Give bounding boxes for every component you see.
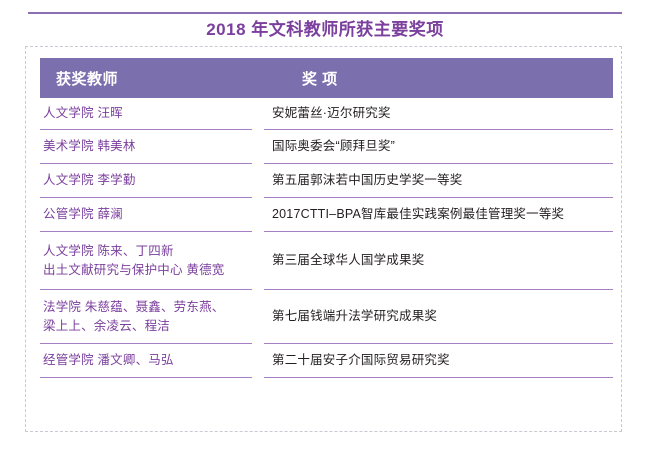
cell-award: 第三届全球华人国学成果奖 — [264, 232, 613, 290]
teacher-line: 公管学院 薛澜 — [43, 205, 242, 224]
cell-teacher: 人文学院 李学勤 — [40, 164, 252, 198]
column-header-teacher: 获奖教师 — [40, 68, 252, 89]
award-text: 第五届郭沫若中国历史学奖一等奖 — [272, 171, 463, 190]
cell-teacher: 人文学院 汪晖 — [40, 98, 252, 130]
teacher-line: 经管学院 潘文卿、马弘 — [43, 351, 242, 370]
cell-teacher: 经管学院 潘文卿、马弘 — [40, 344, 252, 378]
award-text: 国际奥委会“顾拜旦奖” — [272, 137, 395, 156]
teacher-line: 法学院 朱慈蕴、聂鑫、劳东燕、 — [43, 298, 242, 317]
cell-award: 第五届郭沫若中国历史学奖一等奖 — [264, 164, 613, 198]
teacher-line: 人文学院 陈来、丁四新 — [43, 242, 242, 261]
table-row: 公管学院 薛澜2017CTTI–BPA智库最佳实践案例最佳管理奖一等奖 — [40, 198, 613, 232]
award-text: 第七届钱端升法学研究成果奖 — [272, 307, 437, 326]
table-row: 人文学院 汪晖安妮蕾丝·迈尔研究奖 — [40, 98, 613, 130]
table-body: 人文学院 汪晖安妮蕾丝·迈尔研究奖美术学院 韩美林国际奥委会“顾拜旦奖”人文学院… — [40, 98, 613, 378]
table-row: 人文学院 李学勤第五届郭沫若中国历史学奖一等奖 — [40, 164, 613, 198]
award-text: 安妮蕾丝·迈尔研究奖 — [272, 104, 391, 123]
column-header-award: 奖 项 — [252, 68, 613, 89]
teacher-line: 出土文献研究与保护中心 黄德宽 — [43, 261, 242, 280]
page-root: 2018 年文科教师所获主要奖项 获奖教师 奖 项 人文学院 汪晖安妮蕾丝·迈尔… — [0, 0, 650, 454]
cell-award: 安妮蕾丝·迈尔研究奖 — [264, 98, 613, 130]
cell-award: 第七届钱端升法学研究成果奖 — [264, 290, 613, 344]
cell-award: 国际奥委会“顾拜旦奖” — [264, 130, 613, 164]
cell-award: 2017CTTI–BPA智库最佳实践案例最佳管理奖一等奖 — [264, 198, 613, 232]
cell-award: 第二十届安子介国际贸易研究奖 — [264, 344, 613, 378]
teacher-line: 人文学院 汪晖 — [43, 104, 242, 123]
award-text: 第二十届安子介国际贸易研究奖 — [272, 351, 450, 370]
award-text: 2017CTTI–BPA智库最佳实践案例最佳管理奖一等奖 — [272, 205, 564, 224]
cell-teacher: 法学院 朱慈蕴、聂鑫、劳东燕、梁上上、余凌云、程洁 — [40, 290, 252, 344]
awards-table: 获奖教师 奖 项 人文学院 汪晖安妮蕾丝·迈尔研究奖美术学院 韩美林国际奥委会“… — [40, 58, 613, 378]
table-row: 人文学院 陈来、丁四新出土文献研究与保护中心 黄德宽第三届全球华人国学成果奖 — [40, 232, 613, 290]
cell-teacher: 美术学院 韩美林 — [40, 130, 252, 164]
top-divider-rule — [28, 12, 622, 14]
table-row: 美术学院 韩美林国际奥委会“顾拜旦奖” — [40, 130, 613, 164]
teacher-line: 美术学院 韩美林 — [43, 137, 242, 156]
teacher-line: 人文学院 李学勤 — [43, 171, 242, 190]
award-text: 第三届全球华人国学成果奖 — [272, 251, 424, 270]
teacher-line: 梁上上、余凌云、程洁 — [43, 317, 242, 336]
page-title: 2018 年文科教师所获主要奖项 — [28, 18, 622, 42]
table-header-row: 获奖教师 奖 项 — [40, 58, 613, 98]
cell-teacher: 人文学院 陈来、丁四新出土文献研究与保护中心 黄德宽 — [40, 232, 252, 290]
cell-teacher: 公管学院 薛澜 — [40, 198, 252, 232]
table-row: 经管学院 潘文卿、马弘第二十届安子介国际贸易研究奖 — [40, 344, 613, 378]
table-row: 法学院 朱慈蕴、聂鑫、劳东燕、梁上上、余凌云、程洁第七届钱端升法学研究成果奖 — [40, 290, 613, 344]
